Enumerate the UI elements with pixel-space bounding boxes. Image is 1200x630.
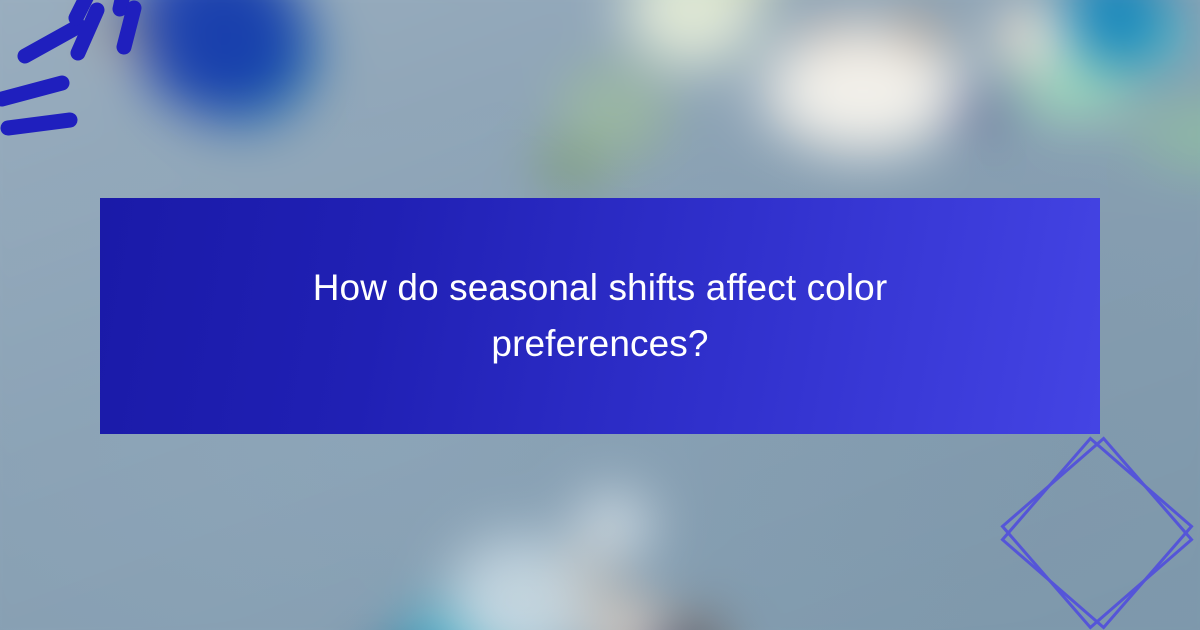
page-title: How do seasonal shifts affect color pref…	[280, 260, 920, 372]
poster-canvas: How do seasonal shifts affect color pref…	[0, 0, 1200, 630]
sparkle-ray-1	[8, 120, 70, 128]
title-banner: How do seasonal shifts affect color pref…	[100, 198, 1100, 434]
rotated-square-1	[1002, 438, 1191, 627]
rotated-square-2	[1002, 438, 1191, 627]
rotated-squares-icon	[982, 418, 1200, 630]
sparkle-ray-5b	[124, 8, 134, 47]
sparkle-ray-2	[2, 83, 62, 99]
sparkle-burst-icon	[0, 0, 175, 150]
